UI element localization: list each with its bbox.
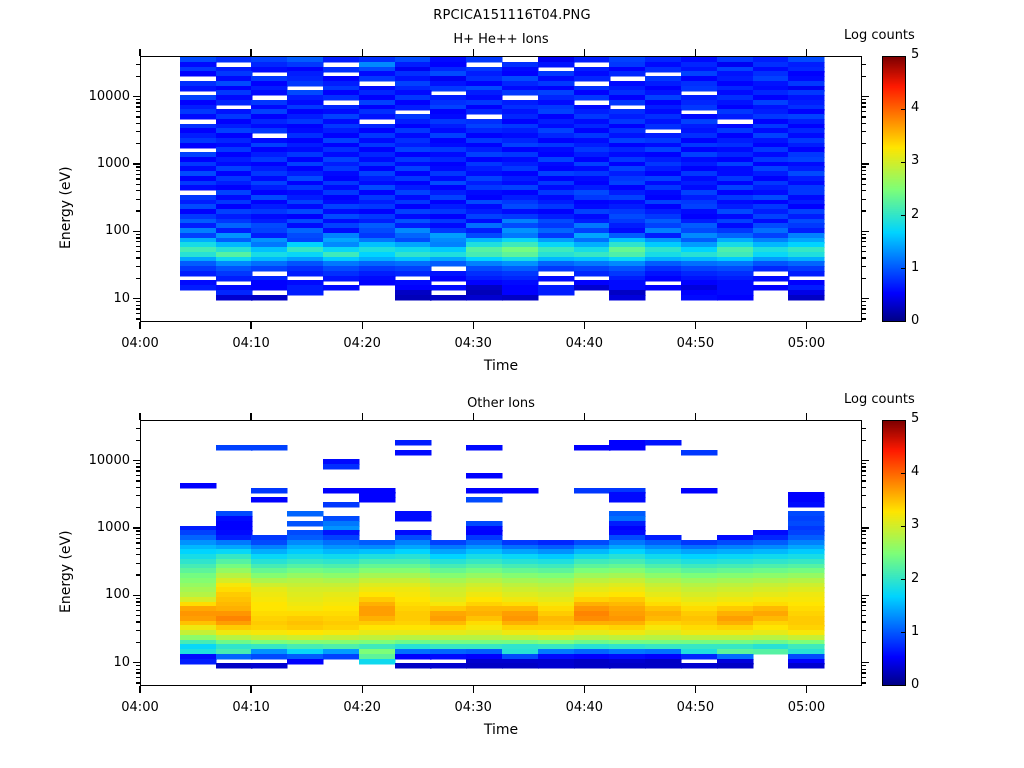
x-tick bbox=[584, 686, 585, 693]
x-tick-label: 05:00 bbox=[761, 700, 851, 715]
y-tick-minor bbox=[862, 495, 866, 496]
y-tick-minor bbox=[136, 669, 140, 670]
colorbar-tick-label: 5 bbox=[911, 411, 919, 426]
y-tick-minor bbox=[136, 610, 140, 611]
y-tick-label: 10 bbox=[42, 655, 130, 670]
y-tick-minor bbox=[862, 682, 866, 683]
y-tick-minor bbox=[862, 507, 866, 508]
x-tick-label: 04:30 bbox=[428, 700, 518, 715]
x-tick-label: 04:00 bbox=[95, 700, 185, 715]
y-tick-minor bbox=[136, 598, 140, 599]
x-tick bbox=[695, 686, 696, 693]
colorbar-tick bbox=[901, 473, 906, 474]
spectrogram-canvas-other bbox=[141, 421, 862, 686]
y-tick-minor bbox=[136, 542, 140, 543]
y-tick-minor bbox=[136, 682, 140, 683]
y-tick-minor bbox=[136, 440, 140, 441]
y-tick-minor bbox=[136, 605, 140, 606]
y-tick-minor bbox=[862, 563, 866, 564]
y-tick-minor bbox=[862, 574, 866, 575]
x-tick bbox=[250, 413, 251, 420]
y-tick-minor bbox=[862, 542, 866, 543]
x-tick bbox=[139, 413, 140, 420]
y-tick-minor bbox=[862, 677, 866, 678]
y-tick-label: 1000 bbox=[42, 520, 130, 535]
x-tick bbox=[473, 413, 474, 420]
x-tick bbox=[139, 686, 140, 693]
y-tick-minor bbox=[862, 466, 866, 467]
y-tick-minor bbox=[136, 548, 140, 549]
y-tick-minor bbox=[136, 563, 140, 564]
y-tick-minor bbox=[862, 463, 866, 464]
y-tick-minor bbox=[136, 677, 140, 678]
y-tick-minor bbox=[136, 507, 140, 508]
x-tick-label: 04:20 bbox=[317, 700, 407, 715]
y-tick-minor bbox=[136, 470, 140, 471]
colorbar-title-other: Log counts bbox=[844, 392, 974, 407]
x-tick-label: 04:40 bbox=[539, 700, 629, 715]
y-tick-minor bbox=[136, 665, 140, 666]
y-tick-minor bbox=[862, 470, 866, 471]
y-tick-minor bbox=[862, 642, 866, 643]
y-tick-minor bbox=[862, 669, 866, 670]
colorbar-tick-label: 3 bbox=[911, 517, 919, 532]
x-tick bbox=[806, 686, 807, 693]
y-tick-minor bbox=[862, 534, 866, 535]
y-tick-minor bbox=[862, 601, 866, 602]
y-tick-minor bbox=[136, 574, 140, 575]
y-tick-minor bbox=[862, 538, 866, 539]
y-tick-minor bbox=[862, 605, 866, 606]
colorbar-tick-label: 2 bbox=[911, 571, 919, 586]
y-tick-major bbox=[133, 527, 140, 528]
y-tick-minor bbox=[136, 495, 140, 496]
y-tick-major bbox=[862, 595, 869, 596]
spectrogram-axes-other bbox=[140, 420, 862, 686]
x-tick bbox=[584, 413, 585, 420]
colorbar-gradient-other bbox=[883, 421, 906, 686]
y-tick-major bbox=[862, 460, 869, 461]
colorbar-tick-label: 4 bbox=[911, 464, 919, 479]
y-tick-minor bbox=[862, 630, 866, 631]
y-tick-label: 10000 bbox=[42, 453, 130, 468]
x-tick bbox=[362, 686, 363, 693]
panel-other-ions: Other Ions Energy (eV) Time 101001000100… bbox=[0, 0, 1024, 768]
x-tick bbox=[250, 686, 251, 693]
y-tick-major bbox=[133, 460, 140, 461]
x-tick bbox=[473, 686, 474, 693]
y-tick-minor bbox=[136, 538, 140, 539]
y-tick-minor bbox=[136, 480, 140, 481]
y-tick-minor bbox=[136, 554, 140, 555]
y-tick-major bbox=[862, 527, 869, 528]
y-tick-major bbox=[133, 595, 140, 596]
y-tick-minor bbox=[136, 630, 140, 631]
y-tick-minor bbox=[136, 428, 140, 429]
y-tick-major bbox=[862, 662, 869, 663]
y-tick-minor bbox=[862, 487, 866, 488]
colorbar-tick-label: 1 bbox=[911, 624, 919, 639]
y-tick-minor bbox=[862, 598, 866, 599]
y-tick-minor bbox=[862, 428, 866, 429]
y-tick-minor bbox=[862, 621, 866, 622]
y-tick-minor bbox=[136, 672, 140, 673]
y-tick-minor bbox=[136, 487, 140, 488]
y-tick-minor bbox=[136, 475, 140, 476]
y-tick-minor bbox=[862, 610, 866, 611]
figure-root: RPCICA151116T04.PNG H+ He++ Ions Energy … bbox=[0, 0, 1024, 768]
y-tick-minor bbox=[862, 665, 866, 666]
y-tick-minor bbox=[136, 642, 140, 643]
y-tick-label: 100 bbox=[42, 587, 130, 602]
y-tick-minor bbox=[136, 530, 140, 531]
y-tick-minor bbox=[136, 534, 140, 535]
x-tick bbox=[362, 413, 363, 420]
x-tick-label: 04:10 bbox=[206, 700, 296, 715]
x-tick bbox=[695, 413, 696, 420]
y-tick-minor bbox=[862, 554, 866, 555]
panel-title-other: Other Ions bbox=[140, 396, 862, 411]
y-tick-minor bbox=[862, 480, 866, 481]
y-tick-minor bbox=[862, 672, 866, 673]
y-tick-minor bbox=[136, 463, 140, 464]
x-tick-label: 04:50 bbox=[650, 700, 740, 715]
y-tick-minor bbox=[136, 466, 140, 467]
y-tick-minor bbox=[136, 621, 140, 622]
y-tick-minor bbox=[862, 530, 866, 531]
y-tick-minor bbox=[862, 548, 866, 549]
y-tick-minor bbox=[862, 475, 866, 476]
colorbar-tick bbox=[901, 579, 906, 580]
colorbar-tick-label: 0 bbox=[911, 677, 919, 692]
y-tick-major bbox=[133, 662, 140, 663]
y-tick-minor bbox=[862, 440, 866, 441]
colorbar-other bbox=[882, 420, 906, 686]
x-axis-title-other: Time bbox=[140, 722, 862, 738]
colorbar-tick bbox=[901, 632, 906, 633]
y-tick-minor bbox=[136, 601, 140, 602]
x-tick bbox=[806, 413, 807, 420]
colorbar-tick bbox=[901, 526, 906, 527]
y-tick-minor bbox=[862, 615, 866, 616]
y-tick-minor bbox=[136, 615, 140, 616]
